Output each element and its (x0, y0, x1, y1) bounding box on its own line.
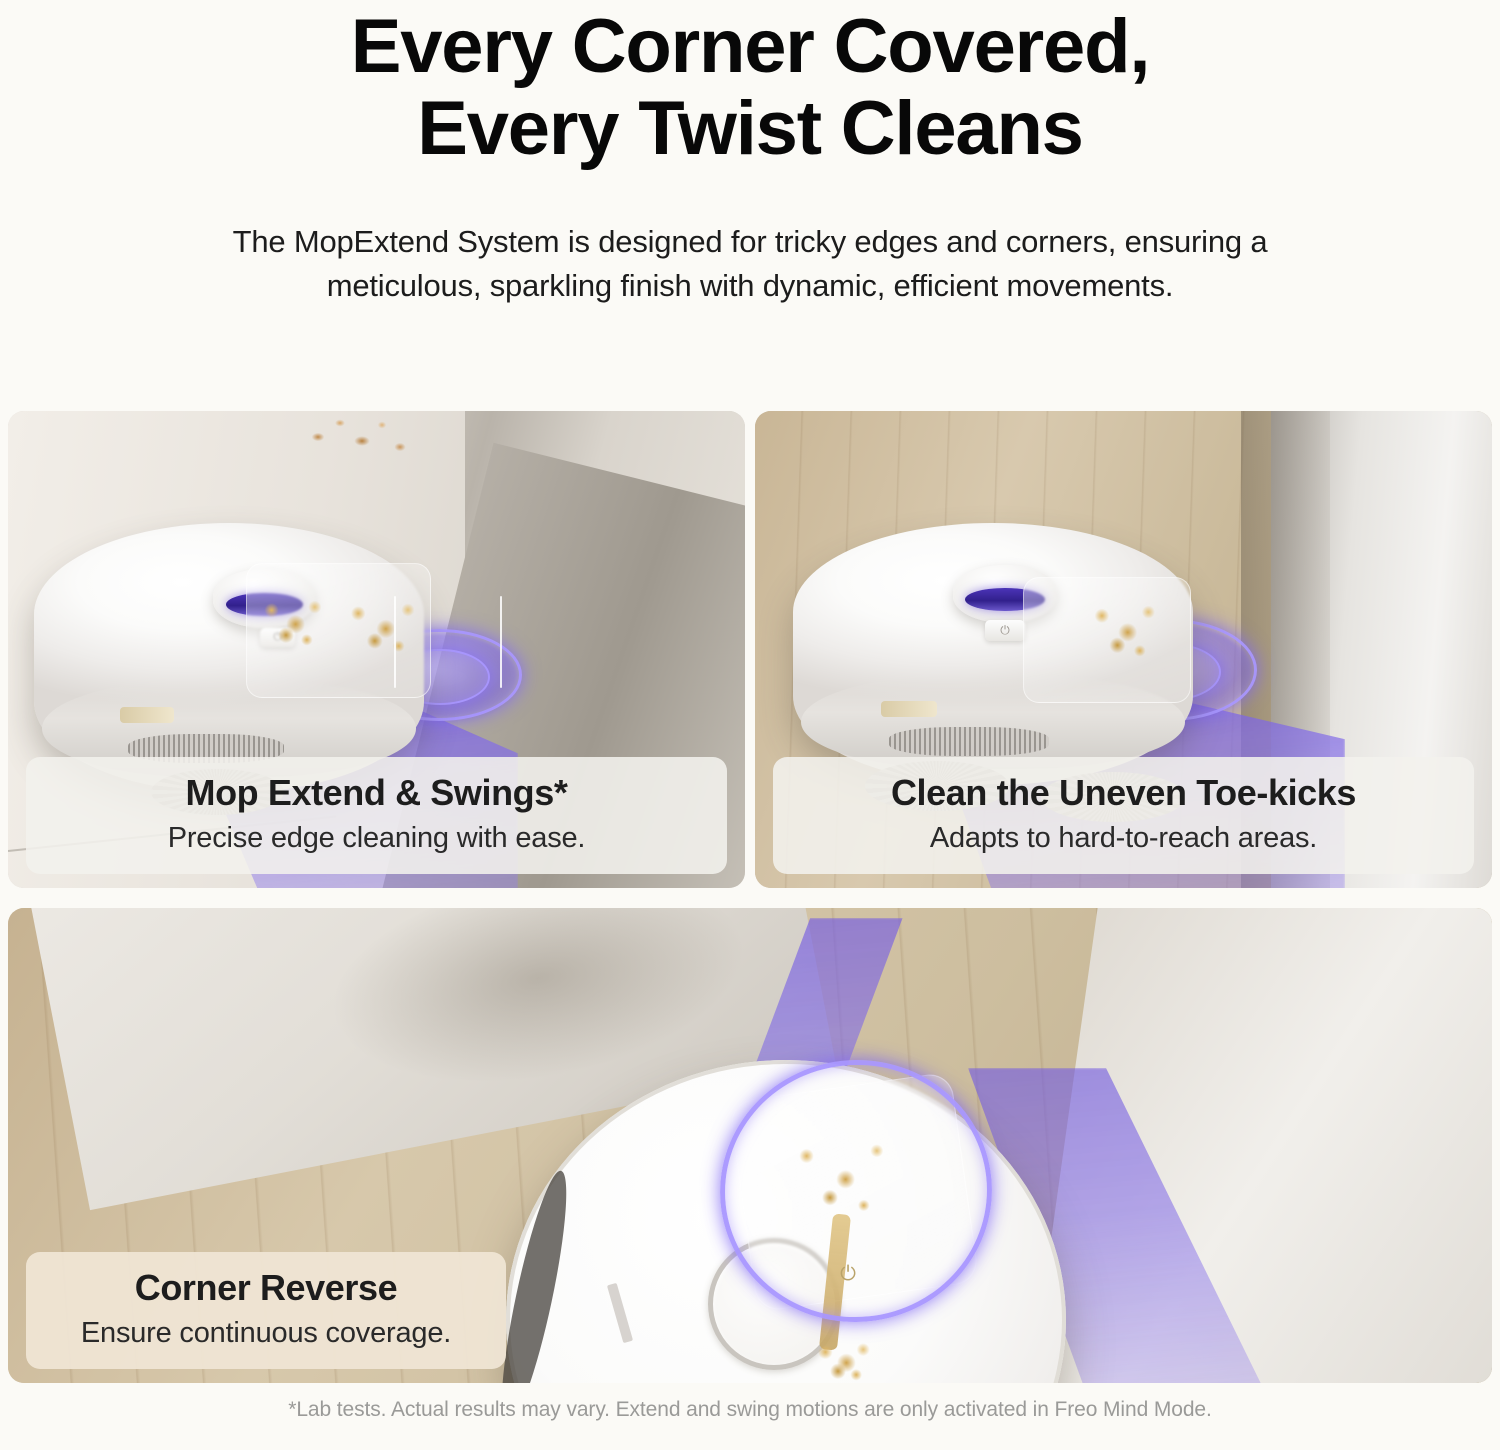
caption-subtitle: Ensure continuous coverage. (50, 1309, 482, 1351)
extend-bracket-right (500, 596, 502, 688)
caption-title: Corner Reverse (50, 1266, 482, 1309)
extend-mop-module-gears (1083, 579, 1169, 671)
robot-air-grille (889, 727, 1049, 756)
caption-title: Clean the Uneven Toe-kicks (793, 771, 1454, 814)
extend-bracket-left (394, 596, 396, 688)
caption-title: Mop Extend & Swings* (46, 771, 707, 814)
extend-mop-module-gears (338, 579, 430, 665)
robot-sensor-strip (881, 701, 937, 717)
page-subtitle: The MopExtend System is designed for tri… (90, 170, 1410, 308)
caption-toe-kicks: Clean the Uneven Toe-kicks Adapts to har… (773, 757, 1474, 874)
caption-mop-extend: Mop Extend & Swings* Precise edge cleani… (26, 757, 727, 874)
caption-corner-reverse: Corner Reverse Ensure continuous coverag… (26, 1252, 506, 1369)
caption-subtitle: Adapts to hard-to-reach areas. (793, 814, 1454, 856)
page-header: Every Corner Covered, Every Twist Cleans… (0, 0, 1500, 308)
footnote-disclaimer: *Lab tests. Actual results may vary. Ext… (0, 1398, 1500, 1422)
robot-sensor-strip (120, 707, 175, 723)
debris-crumbs (300, 411, 430, 477)
power-button-icon: ⏻ (985, 620, 1025, 641)
page-title: Every Corner Covered, Every Twist Cleans (90, 0, 1410, 170)
panel-toe-kicks[interactable]: ⏻ Clean the Uneven Toe-kicks Adapts to h… (755, 411, 1492, 888)
panel-mop-extend[interactable]: ⏻ Extend Mop Extend & Swings* Precise ed… (8, 411, 745, 888)
panel-corner-reverse[interactable]: ⏻ Corner Reverse Ensure continuous cover… (8, 908, 1492, 1383)
panel-row-top: ⏻ Extend Mop Extend & Swings* Precise ed… (8, 411, 1492, 888)
caption-subtitle: Precise edge cleaning with ease. (46, 814, 707, 856)
swing-arm-lower-gear (810, 1328, 880, 1383)
extend-arm-gears (254, 579, 334, 657)
feature-panel-grid: ⏻ Extend Mop Extend & Swings* Precise ed… (8, 411, 1492, 1383)
